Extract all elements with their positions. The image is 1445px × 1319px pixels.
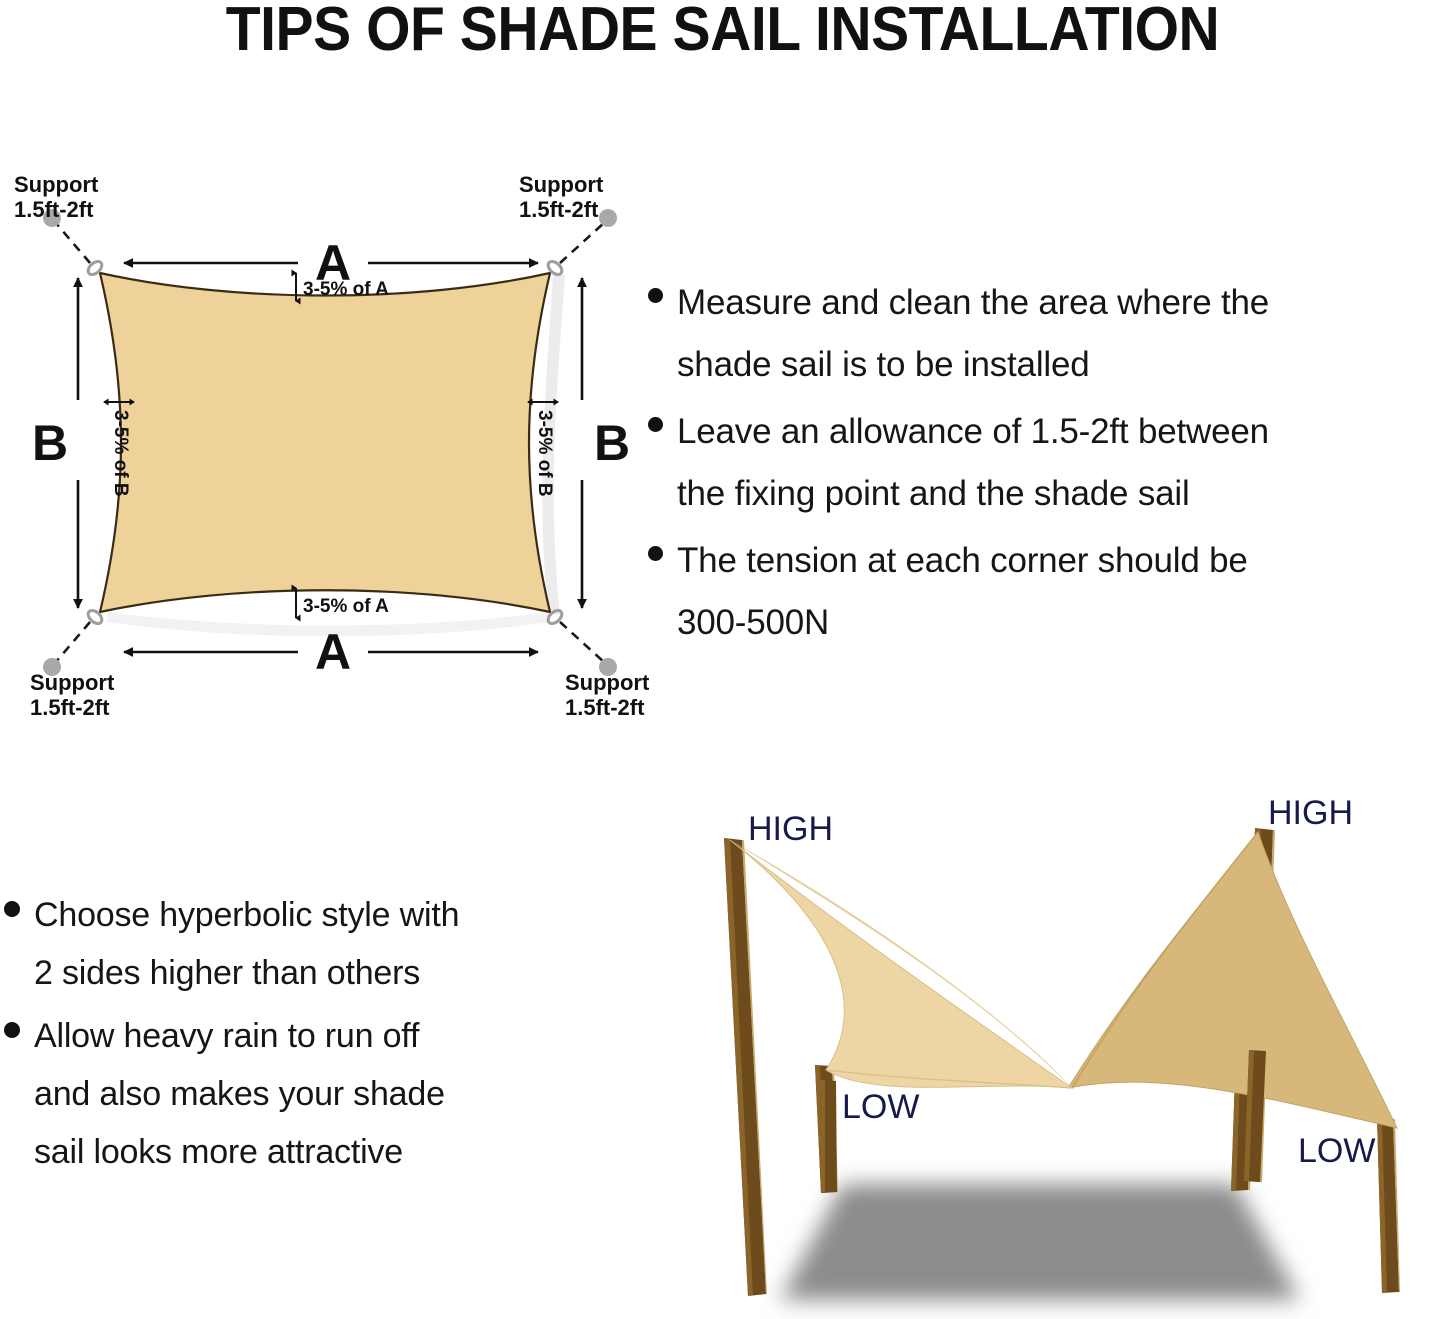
installation-tips-right-list: Measure and clean the area where the sha… — [648, 272, 1445, 659]
support-cord-top-left — [55, 222, 90, 263]
page-title: TIPS OF SHADE SAIL INSTALLATION — [58, 0, 1387, 65]
curvature-label-a-top: 3-5% of A — [303, 279, 389, 300]
dimension-label-a-bottom: A — [315, 624, 351, 680]
ground-shadow — [780, 1184, 1300, 1300]
rectangular-sail-diagram: A 3-5% of A A 3-5% of A B 3-5% of B — [0, 160, 680, 730]
bullet-dot-icon — [4, 1022, 20, 1038]
support-dot-top-right — [599, 209, 617, 227]
support-label-bottom-left-line2: 1.5ft-2ft — [30, 695, 110, 720]
list-item-label: Allow heavy rain to run off and also mak… — [34, 1007, 445, 1181]
dimension-b-left: B — [32, 278, 78, 608]
list-item-label: Measure and clean the area where the sha… — [677, 272, 1269, 396]
dimension-label-b-right: B — [594, 415, 630, 471]
support-label-top-left-line2: 1.5ft-2ft — [14, 197, 94, 222]
list-item: Choose hyperbolic style with 2 sides hig… — [4, 886, 624, 1002]
sail-left — [730, 840, 1072, 1088]
curvature-a-bottom: 3-5% of A — [296, 588, 389, 618]
support-label-top-right: Support 1.5ft-2ft — [519, 172, 604, 222]
support-label-top-left: Support 1.5ft-2ft — [14, 172, 99, 222]
curvature-label-a-bottom: 3-5% of A — [303, 596, 389, 617]
bullet-dot-icon — [648, 288, 663, 303]
sail-right — [1068, 832, 1397, 1128]
installation-tips-left-list: Choose hyperbolic style with 2 sides hig… — [4, 886, 624, 1186]
label-high-left: HIGH — [748, 810, 833, 848]
post-high-left — [724, 838, 767, 1296]
label-low-left: LOW — [842, 1088, 919, 1126]
bullet-dot-icon — [648, 417, 663, 432]
list-item-label: Leave an allowance of 1.5-2ft between th… — [677, 401, 1269, 525]
list-item-label: The tension at each corner should be 300… — [677, 530, 1248, 654]
support-cord-bottom-left — [55, 622, 90, 663]
list-item: The tension at each corner should be 300… — [648, 530, 1445, 654]
dimension-a-bottom: A — [124, 624, 538, 680]
curvature-b-left: 3-5% of B — [104, 402, 134, 497]
support-label-top-right-line2: 1.5ft-2ft — [519, 197, 599, 222]
post-low-left-front — [820, 1080, 837, 1193]
shade-sail-body — [100, 273, 550, 612]
dimension-b-right: B — [582, 278, 630, 608]
list-item: Allow heavy rain to run off and also mak… — [4, 1007, 624, 1181]
support-label-top-right-line1: Support — [519, 172, 604, 197]
support-label-bottom-right-line1: Support — [565, 670, 650, 695]
label-low-right: LOW — [1298, 1132, 1375, 1170]
support-label-bottom-right: Support 1.5ft-2ft — [565, 670, 650, 720]
support-cord-top-right — [560, 222, 605, 263]
list-item: Leave an allowance of 1.5-2ft between th… — [648, 401, 1445, 525]
support-label-bottom-right-line2: 1.5ft-2ft — [565, 695, 645, 720]
post-low-right — [1377, 1118, 1400, 1293]
list-item: Measure and clean the area where the sha… — [648, 272, 1445, 396]
bullet-dot-icon — [4, 901, 20, 917]
support-label-bottom-left: Support 1.5ft-2ft — [30, 670, 115, 720]
label-high-right: HIGH — [1268, 794, 1353, 832]
dimension-label-b-left: B — [32, 415, 68, 471]
curvature-label-b-left: 3-5% of B — [110, 410, 131, 497]
support-cord-bottom-right — [560, 622, 605, 663]
support-label-top-left-line1: Support — [14, 172, 99, 197]
curvature-label-b-right: 3-5% of B — [534, 410, 555, 497]
bullet-dot-icon — [648, 546, 663, 561]
curvature-b-right: 3-5% of B — [528, 402, 558, 497]
hyperbolic-sail-illustration: HIGH HIGH LOW LOW — [660, 780, 1445, 1319]
support-label-bottom-left-line1: Support — [30, 670, 115, 695]
list-item-label: Choose hyperbolic style with 2 sides hig… — [34, 886, 459, 1002]
